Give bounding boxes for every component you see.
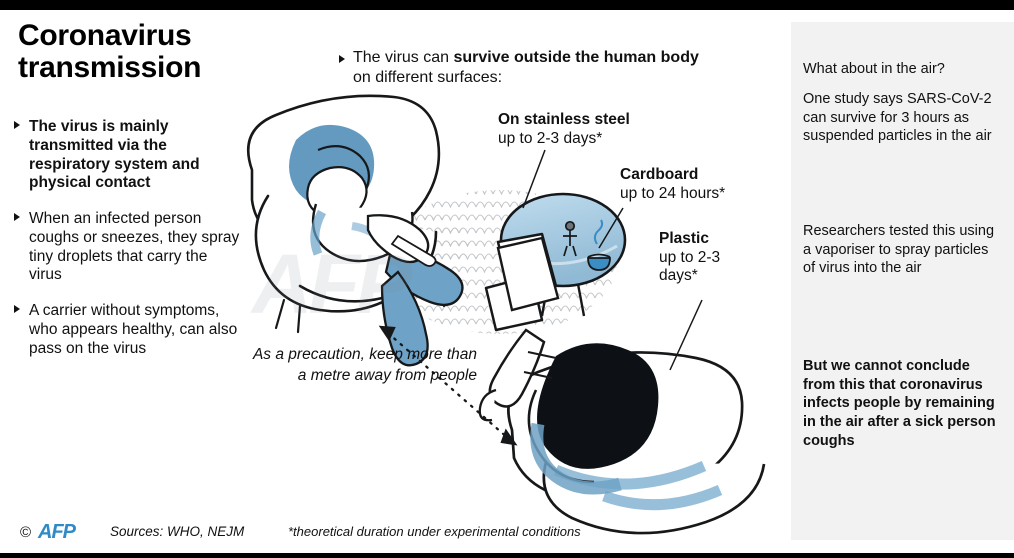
precaution-note: As a precaution, keep more than a metre …: [245, 345, 477, 386]
title-line-1: Coronavirus: [18, 20, 318, 52]
surface-name: Cardboard: [620, 166, 725, 185]
afp-logo: AFP: [38, 521, 75, 544]
footer-bar: © AFP Sources: WHO, NEJM *theoretical du…: [0, 519, 791, 553]
afp-watermark: AFP: [252, 236, 408, 333]
sofa-cushions: [556, 466, 720, 505]
sidebar-researchers-text: Researchers tested this using a vaporise…: [803, 222, 1003, 278]
surface-duration: up to 24 hours*: [620, 185, 725, 204]
surface-duration: up to 2-3 days*: [498, 130, 630, 149]
footnote-text: *theoretical duration under experimental…: [288, 524, 581, 539]
title-line-2: transmission: [18, 52, 318, 84]
paper-sheet: [498, 238, 558, 310]
list-item: The virus is mainly transmitted via the …: [14, 118, 244, 193]
triangle-bullet-icon: [14, 213, 20, 221]
copyright-symbol: ©: [20, 524, 31, 541]
person-dark-hair-right: [480, 330, 659, 488]
callout-plastic: Plastic up to 2-3 days*: [659, 230, 745, 286]
cardboard-box: [486, 234, 556, 330]
sidebar-question: What about in the air?: [803, 60, 1003, 79]
page-title: Coronavirus transmission: [18, 20, 318, 85]
heading-bold: survive outside the human body: [453, 49, 698, 66]
left-bullet-list: The virus is mainly transmitted via the …: [14, 118, 244, 375]
bullet-text: The virus is mainly transmitted via the …: [29, 118, 244, 193]
bullet-text: When an infected person coughs or sneeze…: [29, 210, 244, 285]
list-item: A carrier without symptoms, who appears …: [14, 302, 244, 358]
infographic-canvas: AFP Coronavirus transmission The virus i…: [0, 0, 1014, 558]
heading-tail: on different surfaces:: [353, 69, 502, 86]
heading-lead: The virus can: [353, 49, 453, 66]
surface-duration: up to 2-3 days*: [659, 249, 745, 286]
sidebar-study-text: One study says SARS-CoV-2 can survive fo…: [803, 90, 1003, 146]
top-black-bar: [0, 0, 1014, 10]
sidebar-conclusion-text: But we cannot conclude from this that co…: [803, 357, 1003, 451]
triangle-bullet-icon: [339, 55, 345, 63]
surface-name: On stainless steel: [498, 111, 630, 130]
sources-text: Sources: WHO, NEJM: [110, 524, 244, 539]
sofa-right: [508, 352, 764, 533]
callout-cardboard: Cardboard up to 24 hours*: [620, 166, 725, 203]
bottom-black-bar: [0, 553, 1014, 558]
callout-stainless-steel: On stainless steel up to 2-3 days*: [498, 111, 630, 148]
triangle-bullet-icon: [14, 121, 20, 129]
surface-name: Plastic: [659, 230, 745, 249]
droplet-spray-cloud: [383, 190, 617, 334]
list-item: When an infected person coughs or sneeze…: [14, 210, 244, 285]
triangle-bullet-icon: [14, 305, 20, 313]
blue-round-table: [501, 194, 625, 316]
bullet-text: A carrier without symptoms, who appears …: [29, 302, 244, 358]
surfaces-heading: The virus can survive outside the human …: [339, 48, 719, 89]
